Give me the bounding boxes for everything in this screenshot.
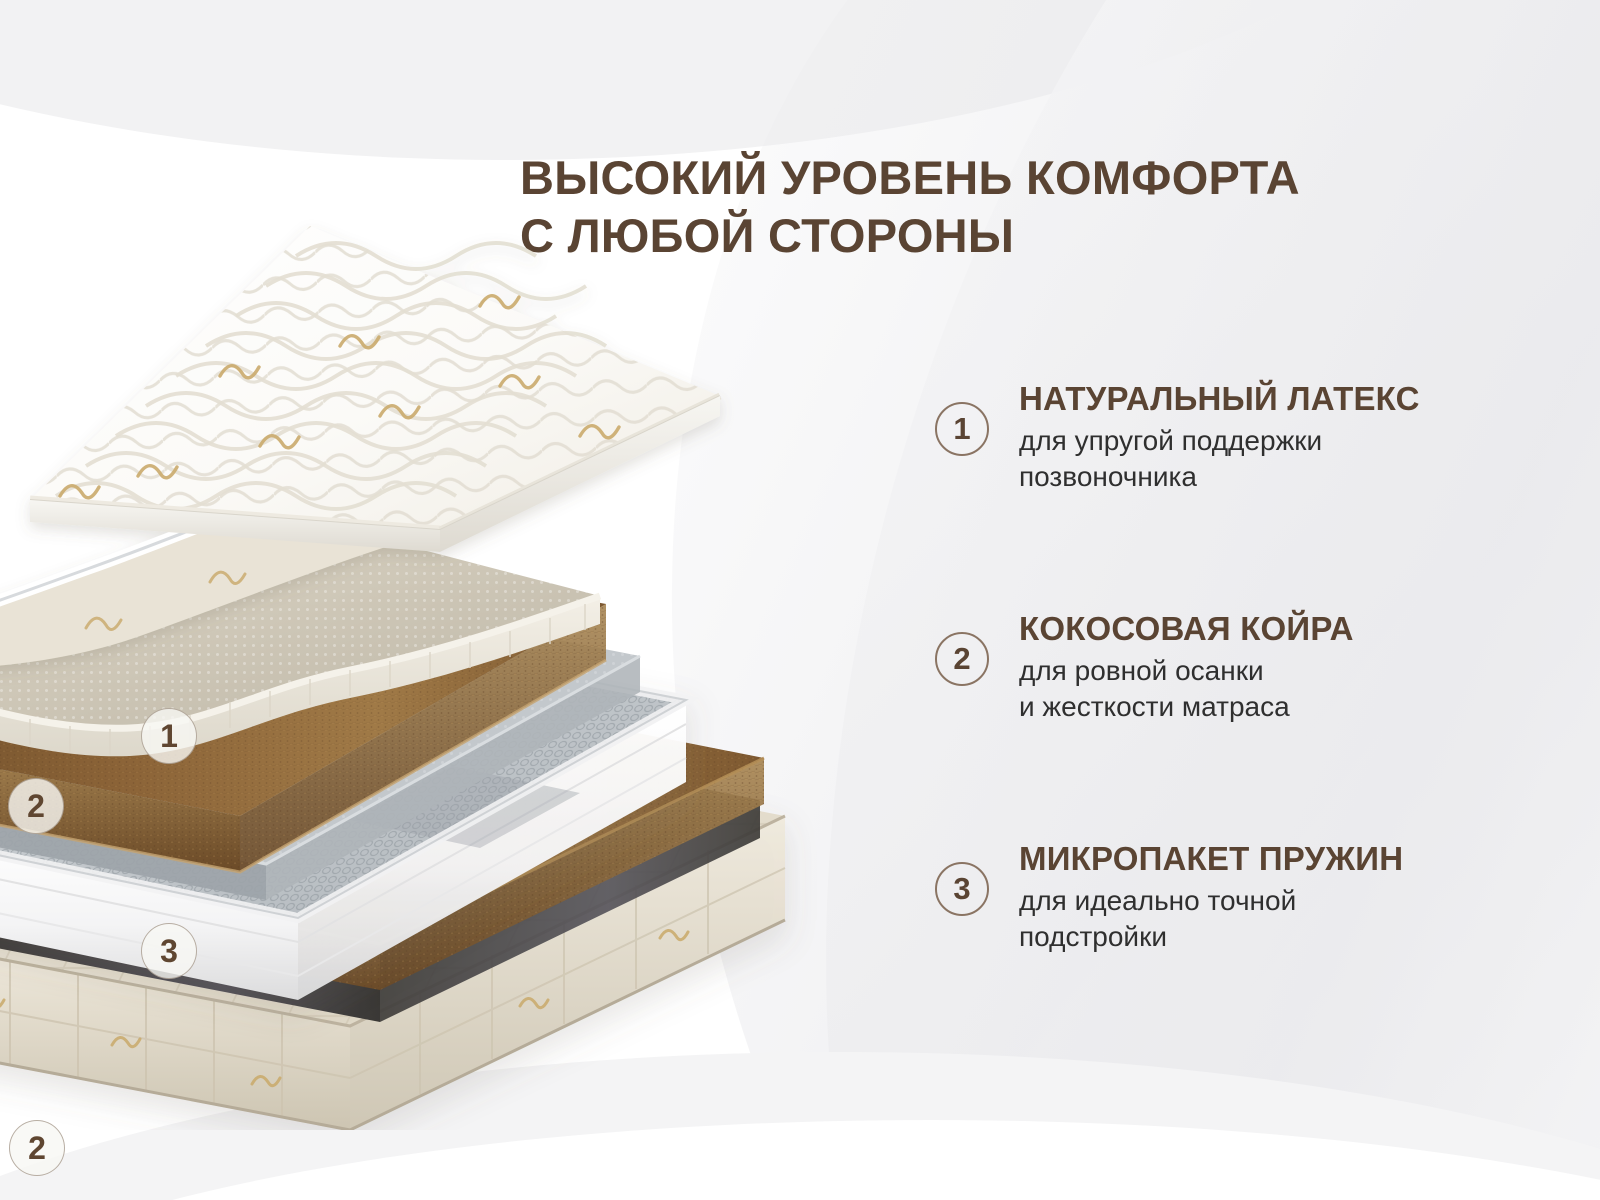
feature-list: 1 НАТУРАЛЬНЫЙ ЛАТЕКС для упругой поддерж… bbox=[935, 380, 1555, 990]
mattress-illustration: 1 2 3 2 bbox=[0, 200, 890, 1130]
feature-item-latex: 1 НАТУРАЛЬНЫЙ ЛАТЕКС для упругой поддерж… bbox=[935, 380, 1555, 530]
feature-title-1: НАТУРАЛЬНЫЙ ЛАТЕКС bbox=[1019, 380, 1555, 419]
feature-description-1: для упругой поддержки позвоночника bbox=[1019, 423, 1555, 496]
feature-item-springs: 3 МИКРОПАКЕТ ПРУЖИН для идеально точной … bbox=[935, 840, 1555, 990]
feature-title-3: МИКРОПАКЕТ ПРУЖИН bbox=[1019, 840, 1555, 879]
feature-description-2: для ровной осанки и жесткости матраса bbox=[1019, 653, 1555, 726]
background-ellipse-top bbox=[0, 0, 1530, 160]
marker-latex-top: 1 bbox=[141, 708, 197, 764]
feature-badge-2: 2 bbox=[935, 632, 989, 686]
feature-badge-3: 3 bbox=[935, 862, 989, 916]
background-ellipse-bottom-highlight bbox=[0, 1120, 1600, 1200]
feature-title-2: КОКОСОВАЯ КОЙРА bbox=[1019, 610, 1555, 649]
infographic-canvas: ВЫСОКИЙ УРОВЕНЬ КОМФОРТА С ЛЮБОЙ СТОРОНЫ bbox=[0, 0, 1600, 1200]
feature-description-3: для идеально точной подстройки bbox=[1019, 883, 1555, 956]
feature-item-coir: 2 КОКОСОВАЯ КОЙРА для ровной осанки и же… bbox=[935, 610, 1555, 760]
marker-springs: 3 bbox=[141, 923, 197, 979]
marker-coir-bottom: 2 bbox=[9, 1120, 65, 1176]
feature-badge-1: 1 bbox=[935, 402, 989, 456]
marker-coir-top: 2 bbox=[8, 778, 64, 834]
